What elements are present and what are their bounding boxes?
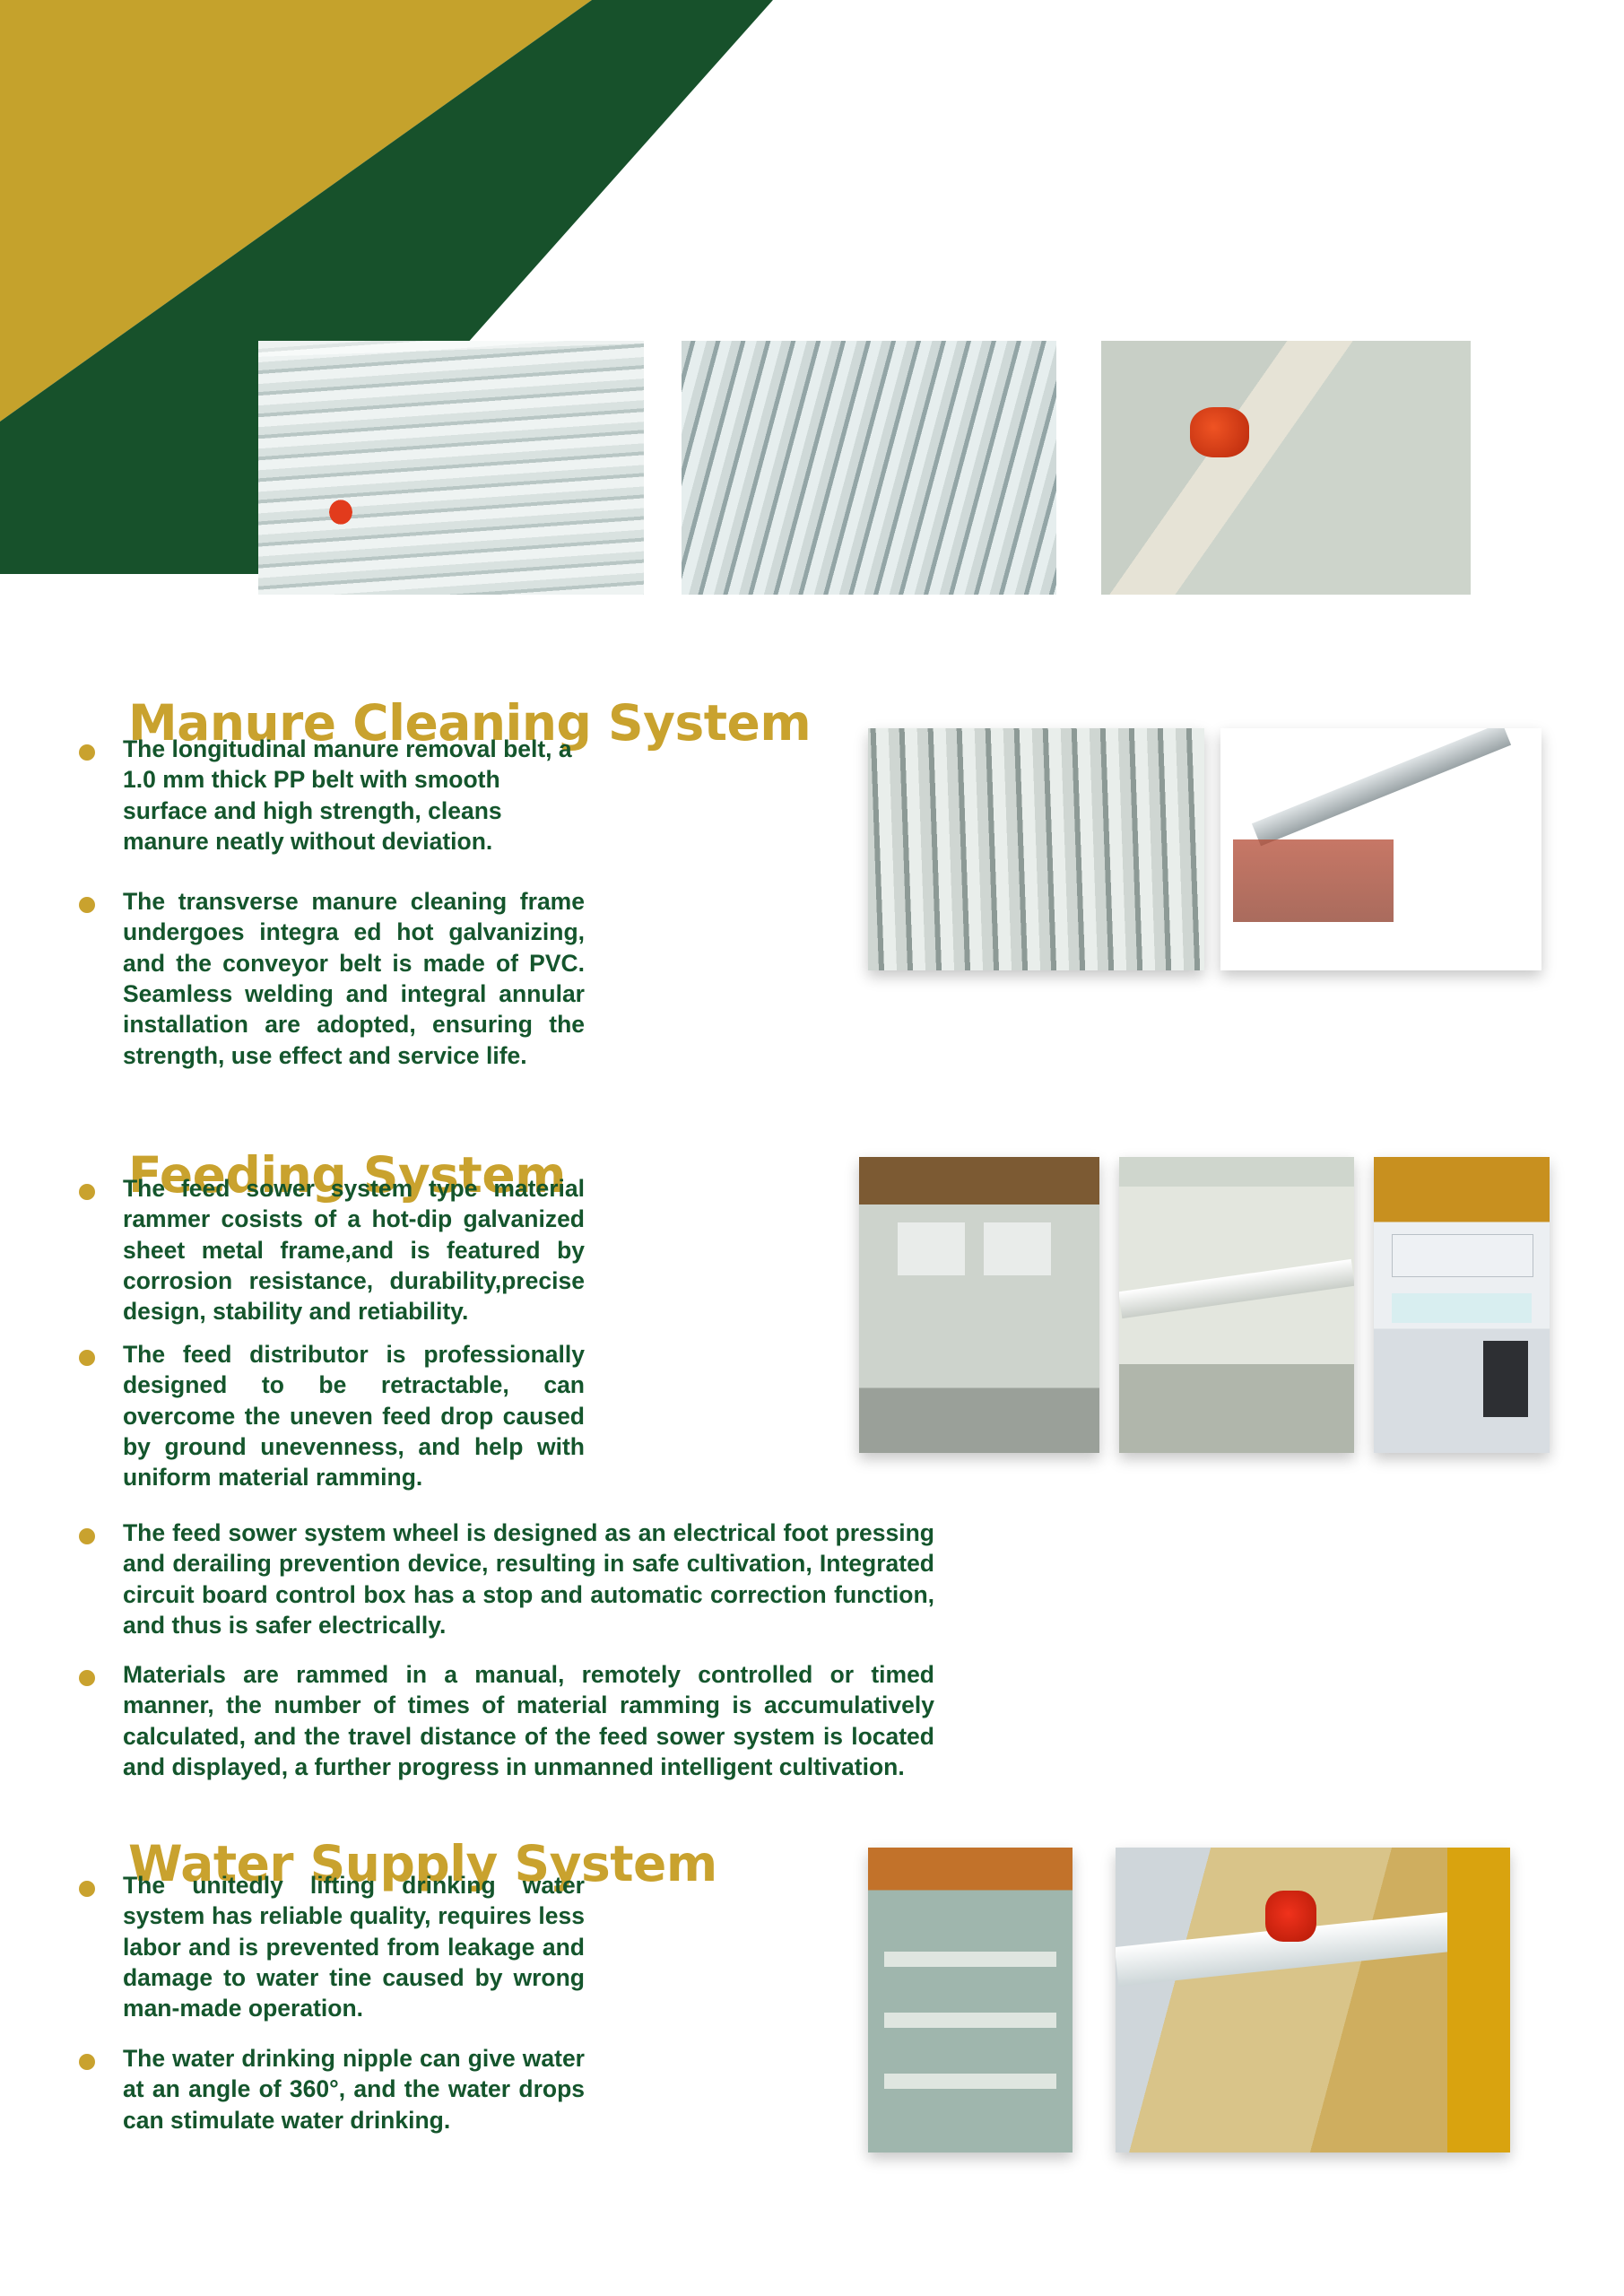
feeding-photo-group bbox=[859, 1157, 1550, 1453]
bullet-text: The transverse manure cleaning frame und… bbox=[123, 886, 585, 1071]
bullet-item: Materials are rammed in a manual, remote… bbox=[79, 1659, 934, 1782]
bullet-text: The unitedly lifting drinking water syst… bbox=[123, 1870, 585, 2024]
photo-feeder-and-chicken bbox=[1119, 1157, 1354, 1453]
bullet-item: The longitudinal manure removal belt, a … bbox=[79, 734, 585, 857]
top-photo-strip bbox=[258, 341, 1471, 595]
bullet-dot-icon bbox=[79, 1350, 95, 1366]
bullet-dot-icon bbox=[79, 1528, 95, 1544]
bullet-text: The feed sower system wheel is designed … bbox=[123, 1518, 934, 1640]
bullet-item: The feed sower system type material ramm… bbox=[79, 1173, 585, 1327]
photo-cage-interior-manure-rows bbox=[868, 728, 1204, 970]
bullet-dot-icon bbox=[79, 1670, 95, 1686]
bullet-item: The feed sower system wheel is designed … bbox=[79, 1518, 934, 1640]
photo-outdoor-inclined-conveyor bbox=[1220, 728, 1541, 970]
bullet-text: The water drinking nipple can give water… bbox=[123, 2043, 585, 2135]
bullet-text: The feed distributor is professionally d… bbox=[123, 1339, 585, 1493]
bullet-text: Materials are rammed in a manual, remote… bbox=[123, 1659, 934, 1782]
bullet-dot-icon bbox=[79, 1184, 95, 1200]
bullet-dot-icon bbox=[79, 2054, 95, 2070]
bullet-text: The longitudinal manure removal belt, a … bbox=[123, 734, 585, 857]
manure-photo-group bbox=[868, 728, 1541, 970]
photo-brooding-cage-rack bbox=[868, 1848, 1073, 2152]
bullet-text: The feed sower system type material ramm… bbox=[123, 1173, 585, 1327]
water-photo-group bbox=[868, 1848, 1510, 2152]
bullet-item: The unitedly lifting drinking water syst… bbox=[79, 1870, 585, 2024]
bullet-item: The feed distributor is professionally d… bbox=[79, 1339, 585, 1493]
bullet-dot-icon bbox=[79, 1881, 95, 1897]
photo-feeding-aisle bbox=[859, 1157, 1099, 1453]
bullet-dot-icon bbox=[79, 897, 95, 913]
bullet-item: The transverse manure cleaning frame und… bbox=[79, 886, 585, 1071]
photo-cage-rows-frame bbox=[682, 341, 1056, 595]
photo-manure-removal-belt-overview bbox=[258, 341, 644, 595]
photo-feed-control-panel bbox=[1374, 1157, 1550, 1453]
bullet-dot-icon bbox=[79, 744, 95, 761]
bullet-item: The water drinking nipple can give water… bbox=[79, 2043, 585, 2135]
photo-hand-installing-nipple bbox=[1101, 341, 1471, 595]
photo-chicks-drinking bbox=[1116, 1848, 1510, 2152]
